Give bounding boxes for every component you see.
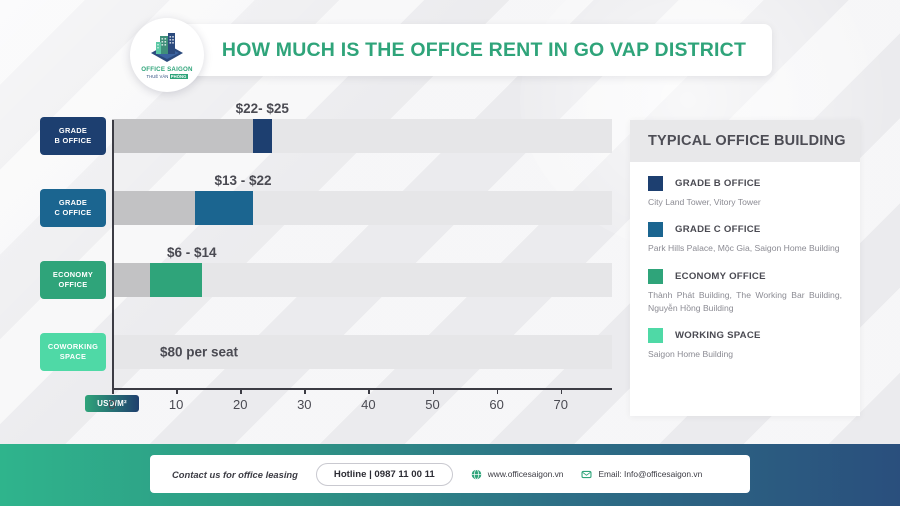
legend-item-name: WORKING SPACE bbox=[675, 330, 761, 341]
bar-track-economy bbox=[112, 263, 612, 297]
bar-value-label-grade-c: $13 - $22 bbox=[214, 173, 271, 188]
chart-row-economy: ECONOMYOFFICE$6 - $14 bbox=[0, 244, 630, 316]
x-axis-tick-label: 70 bbox=[553, 397, 567, 412]
bar-track-grade-b bbox=[112, 119, 612, 153]
category-badge-grade-b[interactable]: GRADEB OFFICE bbox=[40, 117, 106, 155]
x-axis-tick bbox=[497, 388, 499, 394]
x-axis-tick-label: 0 bbox=[108, 397, 115, 412]
footer-email[interactable]: Email: Info@officesaigon.vn bbox=[581, 469, 702, 480]
legend-item[interactable]: ECONOMY OFFICEThành Phát Building, The W… bbox=[648, 269, 842, 316]
legend-item-description: Saigon Home Building bbox=[648, 348, 842, 361]
x-axis-tick bbox=[304, 388, 306, 394]
footer-email-text: Email: Info@officesaigon.vn bbox=[598, 469, 702, 479]
bar-track-coworking: $80 per seat bbox=[112, 335, 612, 369]
category-label-line1: GRADE bbox=[59, 126, 87, 136]
x-axis-tick-label: 60 bbox=[489, 397, 503, 412]
category-label-line1: COWORKING bbox=[48, 342, 98, 352]
bar-segment-value-grade-b[interactable] bbox=[253, 119, 272, 153]
title-bar: HOW MUCH IS THE OFFICE RENT IN GO VAP DI… bbox=[150, 24, 772, 76]
bar-segment-base-grade-c bbox=[112, 191, 195, 225]
x-axis-line bbox=[112, 388, 612, 390]
legend-item-description: Thành Phát Building, The Working Bar Bui… bbox=[648, 289, 842, 316]
bar-value-label-economy: $6 - $14 bbox=[167, 245, 217, 260]
x-axis-tick bbox=[368, 388, 370, 394]
legend-swatch-icon bbox=[648, 269, 663, 284]
x-axis-tick bbox=[112, 388, 114, 394]
footer-hotline[interactable]: Hotline | 0987 11 00 11 bbox=[316, 463, 453, 486]
x-axis-tick bbox=[561, 388, 563, 394]
bar-value-label-coworking: $80 per seat bbox=[160, 345, 238, 360]
globe-icon bbox=[471, 469, 482, 480]
category-label-line1: ECONOMY bbox=[53, 270, 93, 280]
legend-item-header: GRADE C OFFICE bbox=[648, 222, 842, 237]
legend-swatch-icon bbox=[648, 222, 663, 237]
legend-item[interactable]: GRADE C OFFICEPark Hills Palace, Mộc Gia… bbox=[648, 222, 842, 255]
logo-tagline: THUÊ VĂN PHÒNG bbox=[146, 74, 187, 79]
legend-item-header: GRADE B OFFICE bbox=[648, 176, 842, 191]
category-label-line2: C OFFICE bbox=[55, 208, 92, 218]
page-title: HOW MUCH IS THE OFFICE RENT IN GO VAP DI… bbox=[222, 39, 746, 62]
legend-item-description: City Land Tower, Vitory Tower bbox=[648, 196, 842, 209]
footer: Contact us for office leasing Hotline | … bbox=[0, 444, 900, 506]
x-axis-tick-label: 20 bbox=[233, 397, 247, 412]
bar-segment-value-economy[interactable] bbox=[150, 263, 201, 297]
legend-item-header: ECONOMY OFFICE bbox=[648, 269, 842, 284]
y-axis-line bbox=[112, 120, 114, 388]
category-badge-coworking[interactable]: COWORKINGSPACE bbox=[40, 333, 106, 371]
footer-contact-text: Contact us for office leasing bbox=[172, 469, 298, 480]
legend-swatch-icon bbox=[648, 176, 663, 191]
x-axis-tick-label: 30 bbox=[297, 397, 311, 412]
bar-track-grade-c bbox=[112, 191, 612, 225]
footer-website[interactable]: www.officesaigon.vn bbox=[471, 469, 564, 480]
legend-heading: TYPICAL OFFICE BUILDING bbox=[630, 120, 860, 162]
x-axis-tick-label: 10 bbox=[169, 397, 183, 412]
footer-card: Contact us for office leasing Hotline | … bbox=[150, 455, 750, 493]
legend-item-description: Park Hills Palace, Mộc Gia, Saigon Home … bbox=[648, 242, 842, 255]
category-badge-grade-c[interactable]: GRADEC OFFICE bbox=[40, 189, 106, 227]
legend-item-name: ECONOMY OFFICE bbox=[675, 271, 766, 282]
chart-row-grade-b: GRADEB OFFICE$22- $25 bbox=[0, 100, 630, 172]
logo: OFFICE SAIGON THUÊ VĂN PHÒNG bbox=[130, 18, 204, 92]
footer-website-text: www.officesaigon.vn bbox=[488, 469, 564, 479]
legend-item-name: GRADE B OFFICE bbox=[675, 178, 761, 189]
legend-item-header: WORKING SPACE bbox=[648, 328, 842, 343]
bar-value-label-grade-b: $22- $25 bbox=[236, 101, 289, 116]
category-label-line2: OFFICE bbox=[59, 280, 88, 290]
x-axis-tick bbox=[433, 388, 435, 394]
category-label-line1: GRADE bbox=[59, 198, 87, 208]
legend-item[interactable]: WORKING SPACESaigon Home Building bbox=[648, 328, 842, 361]
legend-swatch-icon bbox=[648, 328, 663, 343]
chart-rows: GRADEB OFFICE$22- $25GRADEC OFFICE$13 - … bbox=[0, 100, 630, 388]
envelope-icon bbox=[581, 469, 592, 480]
chart-row-grade-c: GRADEC OFFICE$13 - $22 bbox=[0, 172, 630, 244]
legend-items: GRADE B OFFICECity Land Tower, Vitory To… bbox=[630, 162, 860, 362]
x-axis-tick bbox=[240, 388, 242, 394]
bar-segment-value-grade-c[interactable] bbox=[195, 191, 253, 225]
chart-row-coworking: COWORKINGSPACE$80 per seat bbox=[0, 316, 630, 388]
office-building-logo-icon bbox=[147, 31, 187, 65]
category-label-line2: B OFFICE bbox=[55, 136, 92, 146]
category-label-line2: SPACE bbox=[60, 352, 86, 362]
legend-item[interactable]: GRADE B OFFICECity Land Tower, Vitory To… bbox=[648, 176, 842, 209]
legend-panel: TYPICAL OFFICE BUILDING GRADE B OFFICECi… bbox=[630, 120, 860, 416]
bar-chart: GRADEB OFFICE$22- $25GRADEC OFFICE$13 - … bbox=[0, 100, 630, 430]
x-axis-tick-label: 40 bbox=[361, 397, 375, 412]
x-axis-tick bbox=[176, 388, 178, 394]
logo-name: OFFICE SAIGON bbox=[141, 66, 192, 73]
x-axis-tick-label: 50 bbox=[425, 397, 439, 412]
bar-segment-base-economy bbox=[112, 263, 150, 297]
header: HOW MUCH IS THE OFFICE RENT IN GO VAP DI… bbox=[0, 0, 900, 105]
category-badge-economy[interactable]: ECONOMYOFFICE bbox=[40, 261, 106, 299]
legend-item-name: GRADE C OFFICE bbox=[675, 224, 761, 235]
bar-segment-base-grade-b bbox=[112, 119, 253, 153]
